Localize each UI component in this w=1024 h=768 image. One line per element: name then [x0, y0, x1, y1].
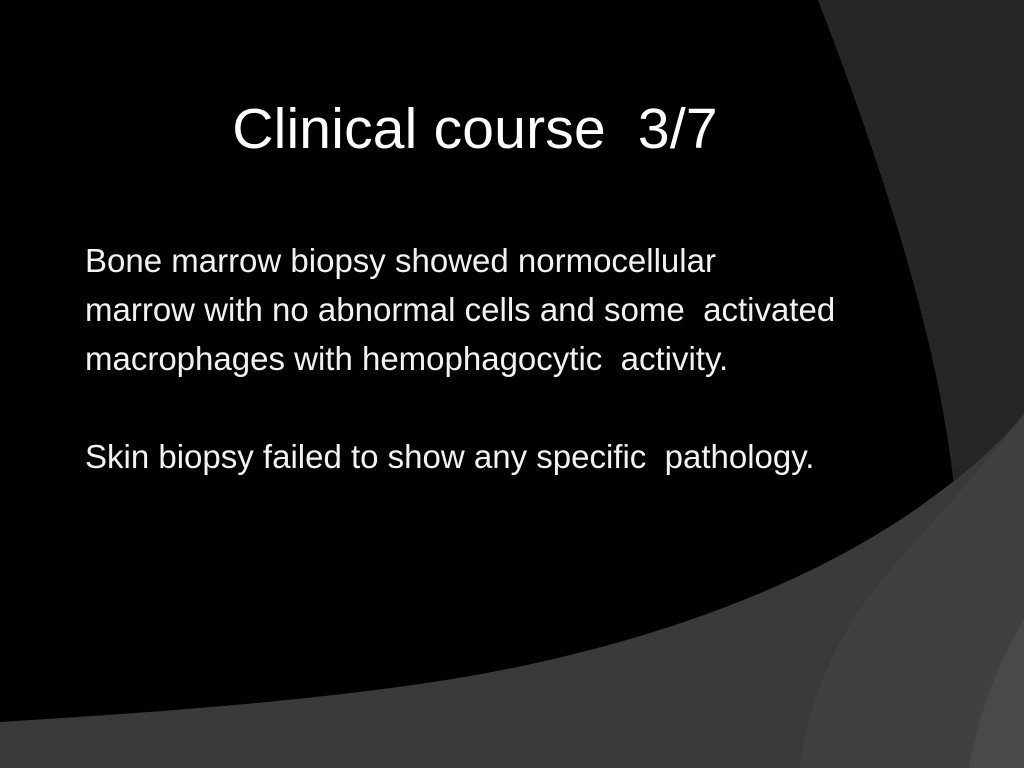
band-bottom-right-shape — [852, 560, 1024, 768]
paragraph-spacer — [85, 383, 945, 432]
body-paragraph-1: Bone marrow biopsy showed normocellular … — [85, 236, 945, 383]
band-right-edge-shape — [969, 620, 1024, 768]
page-title: Clinical course 3/7 — [0, 100, 950, 160]
arc-top-right-tail — [950, 440, 1024, 700]
slide-body: Bone marrow biopsy showed normocellular … — [85, 236, 945, 481]
body-paragraph-2: Skin biopsy failed to show any specific … — [85, 432, 945, 481]
presentation-slide: Clinical course 3/7 Bone marrow biopsy s… — [0, 0, 1024, 768]
